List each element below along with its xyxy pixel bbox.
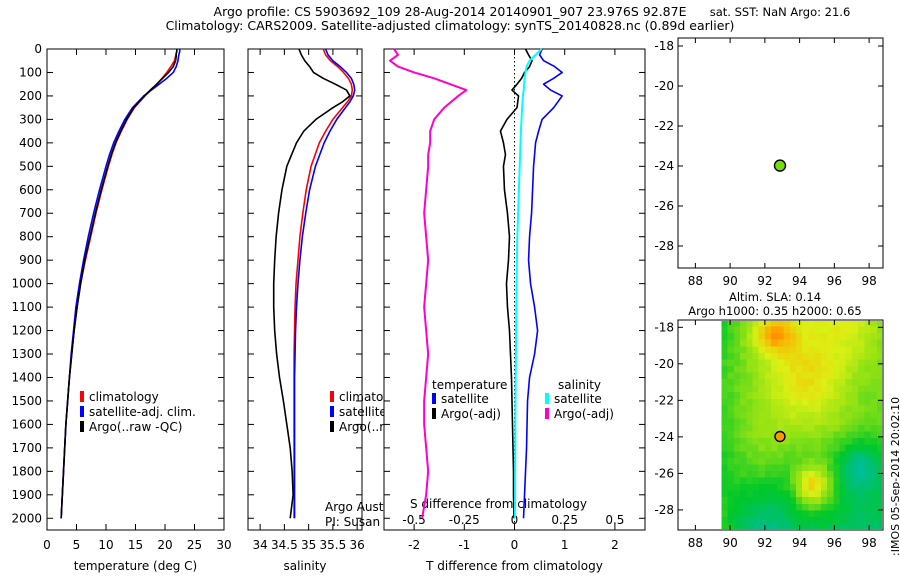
y-tick-label-17: 1700 <box>11 441 42 455</box>
heatmap-cell <box>871 445 878 452</box>
heatmap-cell <box>846 327 853 334</box>
heatmap-cell <box>846 504 853 511</box>
heatmap-cell <box>759 504 766 511</box>
heatmap-cell <box>864 353 871 360</box>
heatmap-cell <box>790 346 797 353</box>
heatmap-cell <box>734 353 741 360</box>
heatmap-cell <box>728 418 735 425</box>
heatmap-cell <box>815 458 822 465</box>
sst-y-tick-label-1: -20 <box>654 79 674 93</box>
heatmap-cell <box>759 405 766 412</box>
heatmap-cell <box>871 418 878 425</box>
heatmap-cell <box>796 353 803 360</box>
heatmap-cell <box>802 379 809 386</box>
heatmap-cell <box>771 418 778 425</box>
heatmap-cell <box>734 412 741 419</box>
heatmap-cell <box>790 478 797 485</box>
heatmap-cell <box>858 386 865 393</box>
heatmap-cell <box>821 333 828 340</box>
heatmap-cell <box>821 432 828 439</box>
heatmap-cell <box>740 471 747 478</box>
heatmap-cell <box>808 484 815 491</box>
heatmap-cell <box>765 320 772 327</box>
heatmap-cell <box>759 432 766 439</box>
heatmap-cell <box>790 451 797 458</box>
heatmap-cell <box>864 464 871 471</box>
heatmap-cell <box>852 425 859 432</box>
heatmap-cell <box>790 497 797 504</box>
heatmap-cell <box>734 432 741 439</box>
difference-x-axis-label-top: S difference from climatology <box>410 497 587 511</box>
heatmap-cell <box>721 353 728 360</box>
heatmap-cell <box>858 517 865 524</box>
heatmap-cell <box>840 405 847 412</box>
heatmap-cell <box>846 392 853 399</box>
heatmap-cell <box>827 412 834 419</box>
heatmap-cell <box>808 497 815 504</box>
heatmap-cell <box>827 458 834 465</box>
heatmap-cell <box>771 425 778 432</box>
heatmap-cell <box>864 333 871 340</box>
heatmap-cell <box>753 432 760 439</box>
heatmap-cell <box>746 517 753 524</box>
heatmap-cell <box>833 333 840 340</box>
heatmap-cell <box>864 438 871 445</box>
heatmap-cell <box>864 418 871 425</box>
heatmap-cell <box>796 333 803 340</box>
heatmap-cell <box>759 458 766 465</box>
heatmap-cell <box>728 333 735 340</box>
sla-x-tick-label-2: 92 <box>757 536 772 550</box>
heatmap-cell <box>852 366 859 373</box>
heatmap-cell <box>858 418 865 425</box>
heatmap-cell <box>840 320 847 327</box>
heatmap-cell <box>808 359 815 366</box>
heatmap-cell <box>840 491 847 498</box>
y-tick-label-14: 1400 <box>11 370 42 384</box>
heatmap-cell <box>734 517 741 524</box>
heatmap-cell <box>740 386 747 393</box>
heatmap-cell <box>827 425 834 432</box>
heatmap-cell <box>858 346 865 353</box>
heatmap-cell <box>840 478 847 485</box>
heatmap-cell <box>753 418 760 425</box>
y-tick-label-7: 700 <box>19 206 42 220</box>
heatmap-cell <box>852 392 859 399</box>
heatmap-cell <box>721 359 728 366</box>
heatmap-cell <box>821 438 828 445</box>
y-tick-label-19: 1900 <box>11 488 42 502</box>
heatmap-cell <box>815 399 822 406</box>
heatmap-cell <box>802 405 809 412</box>
heatmap-cell <box>864 458 871 465</box>
heatmap-cell <box>790 504 797 511</box>
heatmap-cell <box>740 340 747 347</box>
heatmap-cell <box>852 504 859 511</box>
heatmap-cell <box>846 497 853 504</box>
heatmap-cell <box>840 432 847 439</box>
heatmap-cell <box>827 392 834 399</box>
heatmap-cell <box>753 471 760 478</box>
heatmap-cell <box>827 333 834 340</box>
heatmap-cell <box>734 491 741 498</box>
heatmap-cell <box>802 432 809 439</box>
heatmap-cell <box>815 497 822 504</box>
heatmap-cell <box>753 464 760 471</box>
heatmap-cell <box>753 491 760 498</box>
heatmap-cell <box>815 353 822 360</box>
heatmap-cell <box>784 373 791 380</box>
heatmap-cell <box>771 517 778 524</box>
heatmap-cell <box>753 484 760 491</box>
heatmap-cell <box>746 346 753 353</box>
heatmap-cell <box>771 366 778 373</box>
heatmap-cell <box>871 366 878 373</box>
heatmap-cell <box>827 432 834 439</box>
temperature-legend-label-1: satellite-adj. clim. <box>89 405 196 419</box>
heatmap-cell <box>746 399 753 406</box>
heatmap-cell <box>858 504 865 511</box>
heatmap-cell <box>815 491 822 498</box>
heatmap-cell <box>821 373 828 380</box>
y-tick-label-8: 800 <box>19 230 42 244</box>
heatmap-cell <box>740 327 747 334</box>
heatmap-cell <box>728 346 735 353</box>
heatmap-cell <box>721 340 728 347</box>
heatmap-cell <box>840 412 847 419</box>
heatmap-cell <box>808 412 815 419</box>
heatmap-cell <box>728 412 735 419</box>
heatmap-cell <box>771 320 778 327</box>
heatmap-cell <box>827 379 834 386</box>
heatmap-cell <box>833 517 840 524</box>
heatmap-cell <box>858 327 865 334</box>
heatmap-cell <box>721 451 728 458</box>
heatmap-cell <box>759 346 766 353</box>
heatmap-cell <box>759 478 766 485</box>
heatmap-cell <box>833 497 840 504</box>
heatmap-cell <box>721 497 728 504</box>
heatmap-cell <box>771 373 778 380</box>
heatmap-cell <box>852 471 859 478</box>
heatmap-cell <box>790 379 797 386</box>
heatmap-cell <box>852 432 859 439</box>
heatmap-cell <box>740 504 747 511</box>
salinity-plot-frame <box>248 49 362 530</box>
heatmap-cell <box>771 359 778 366</box>
heatmap-cell <box>864 379 871 386</box>
salinity-legend-swatch-1 <box>330 406 334 417</box>
heatmap-cell <box>753 386 760 393</box>
heatmap-cell <box>833 418 840 425</box>
y-tick-label-4: 400 <box>19 136 42 150</box>
heatmap-cell <box>852 386 859 393</box>
heatmap-cell <box>777 333 784 340</box>
heatmap-cell <box>734 510 741 517</box>
heatmap-cell <box>728 353 735 360</box>
heatmap-cell <box>821 379 828 386</box>
heatmap-cell <box>815 432 822 439</box>
heatmap-cell <box>821 471 828 478</box>
heatmap-cell <box>759 366 766 373</box>
temperature-legend-swatch-0 <box>80 391 84 402</box>
heatmap-cell <box>784 379 791 386</box>
heatmap-cell <box>796 484 803 491</box>
heatmap-cell <box>771 445 778 452</box>
heatmap-cell <box>721 386 728 393</box>
heatmap-cell <box>864 471 871 478</box>
heatmap-cell <box>802 412 809 419</box>
heatmap-cell <box>852 340 859 347</box>
heatmap-cell <box>728 386 735 393</box>
heatmap-cell <box>871 373 878 380</box>
heatmap-cell <box>833 458 840 465</box>
heatmap-cell <box>740 491 747 498</box>
heatmap-cell <box>821 497 828 504</box>
heatmap-cell <box>858 412 865 419</box>
heatmap-cell <box>790 484 797 491</box>
heatmap-cell <box>746 445 753 452</box>
heatmap-cell <box>746 373 753 380</box>
heatmap-cell <box>759 353 766 360</box>
heatmap-cell <box>840 327 847 334</box>
heatmap-cell <box>777 412 784 419</box>
heatmap-cell <box>815 445 822 452</box>
heatmap-cell <box>784 418 791 425</box>
heatmap-cell <box>858 432 865 439</box>
y-tick-label-13: 1300 <box>11 347 42 361</box>
heatmap-cell <box>840 399 847 406</box>
heatmap-cell <box>790 392 797 399</box>
heatmap-cell <box>740 432 747 439</box>
heatmap-cell <box>827 399 834 406</box>
heatmap-cell <box>790 399 797 406</box>
heatmap-cell <box>815 438 822 445</box>
heatmap-cell <box>790 445 797 452</box>
heatmap-cell <box>777 458 784 465</box>
heatmap-cell <box>852 333 859 340</box>
heatmap-cell <box>840 464 847 471</box>
heatmap-cell <box>858 497 865 504</box>
heatmap-cell <box>796 373 803 380</box>
heatmap-cell <box>858 464 865 471</box>
heatmap-cell <box>759 399 766 406</box>
heatmap-cell <box>802 320 809 327</box>
heatmap-cell <box>777 491 784 498</box>
sla-y-tick-label-1: -20 <box>654 357 674 371</box>
heatmap-cell <box>821 445 828 452</box>
heatmap-cell <box>734 451 741 458</box>
heatmap-cell <box>765 491 772 498</box>
heatmap-cell <box>790 327 797 334</box>
heatmap-cell <box>796 504 803 511</box>
heatmap-cell <box>821 484 828 491</box>
heatmap-cell <box>771 497 778 504</box>
heatmap-cell <box>871 438 878 445</box>
heatmap-cell <box>746 504 753 511</box>
heatmap-cell <box>790 359 797 366</box>
heatmap-cell <box>740 320 747 327</box>
heatmap-cell <box>852 327 859 334</box>
heatmap-cell <box>796 327 803 334</box>
y-tick-label-16: 1600 <box>11 417 42 431</box>
heatmap-cell <box>790 517 797 524</box>
heatmap-cell <box>802 425 809 432</box>
heatmap-cell <box>821 327 828 334</box>
difference-legend-temperature-swatch-0 <box>432 393 436 404</box>
heatmap-cell <box>765 464 772 471</box>
heatmap-cell <box>784 497 791 504</box>
panel-salinity: 3434.53535.536salinityclimatologysatelli… <box>230 0 370 580</box>
heatmap-cell <box>746 353 753 360</box>
temperature-legend-swatch-2 <box>80 421 84 432</box>
heatmap-cell <box>746 320 753 327</box>
heatmap-cell <box>728 471 735 478</box>
heatmap-cell <box>802 438 809 445</box>
heatmap-cell <box>846 464 853 471</box>
heatmap-cell <box>858 438 865 445</box>
heatmap-cell <box>815 373 822 380</box>
heatmap-cell <box>833 412 840 419</box>
sla-x-tick-label-3: 94 <box>792 536 807 550</box>
sla-x-tick-label-5: 98 <box>861 536 876 550</box>
heatmap-cell <box>759 484 766 491</box>
heatmap-cell <box>852 399 859 406</box>
heatmap-cell <box>746 386 753 393</box>
heatmap-cell <box>753 497 760 504</box>
heatmap-cell <box>871 327 878 334</box>
heatmap-cell <box>759 412 766 419</box>
heatmap-cell <box>746 491 753 498</box>
heatmap-cell <box>765 432 772 439</box>
imos-timestamp: :IMOS 05-Sep-2014 20:02:10 <box>889 397 900 556</box>
heatmap-cell <box>753 373 760 380</box>
heatmap-cell <box>740 405 747 412</box>
heatmap-cell <box>796 405 803 412</box>
x-tick-label-bottom-0: -2 <box>408 538 420 552</box>
heatmap-cell <box>777 399 784 406</box>
sst-plot-frame <box>678 38 883 268</box>
heatmap-cell <box>734 497 741 504</box>
heatmap-cell <box>833 359 840 366</box>
heatmap-cell <box>858 478 865 485</box>
heatmap-cell <box>734 438 741 445</box>
heatmap-cell <box>771 353 778 360</box>
heatmap-cell <box>721 478 728 485</box>
heatmap-cell <box>721 379 728 386</box>
heatmap-cell <box>753 405 760 412</box>
heatmap-cell <box>765 359 772 366</box>
heatmap-cell <box>771 451 778 458</box>
heatmap-cell <box>827 478 834 485</box>
heatmap-cell <box>815 327 822 334</box>
heatmap-cell <box>864 451 871 458</box>
heatmap-cell <box>871 399 878 406</box>
x-tick-label-bottom-4: 2 <box>611 538 619 552</box>
heatmap-cell <box>771 379 778 386</box>
heatmap-cell <box>815 340 822 347</box>
panel-sst-map: sat. SST: NaN Argo: 21.6 889092949698-18… <box>660 0 900 300</box>
heatmap-cell <box>777 405 784 412</box>
heatmap-cell <box>771 484 778 491</box>
heatmap-cell <box>777 517 784 524</box>
heatmap-cell <box>753 412 760 419</box>
heatmap-cell <box>759 425 766 432</box>
heatmap-cell <box>777 471 784 478</box>
temperature-legend-label-0: climatology <box>89 390 159 404</box>
heatmap-cell <box>771 346 778 353</box>
heatmap-cell <box>734 359 741 366</box>
heatmap-cell <box>753 366 760 373</box>
heatmap-cell <box>871 346 878 353</box>
temperature-plot-frame <box>47 49 224 530</box>
heatmap-cell <box>753 333 760 340</box>
heatmap-cell <box>734 464 741 471</box>
heatmap-cell <box>864 478 871 485</box>
heatmap-cell <box>864 405 871 412</box>
heatmap-cell <box>808 386 815 393</box>
difference-legend-salinity-swatch-0 <box>545 393 549 404</box>
heatmap-cell <box>790 405 797 412</box>
heatmap-cell <box>734 327 741 334</box>
heatmap-cell <box>784 464 791 471</box>
heatmap-cell <box>746 432 753 439</box>
heatmap-cell <box>808 392 815 399</box>
heatmap-cell <box>765 340 772 347</box>
heatmap-cell <box>858 399 865 406</box>
heatmap-cell <box>827 386 834 393</box>
heatmap-cell <box>833 510 840 517</box>
heatmap-cell <box>827 320 834 327</box>
heatmap-cell <box>858 458 865 465</box>
difference-legend-temperature-label-1: Argo(-adj) <box>441 407 501 421</box>
sla-y-tick-label-0: -18 <box>654 320 674 334</box>
heatmap-cell <box>852 353 859 360</box>
heatmap-cell <box>759 497 766 504</box>
heatmap-cell <box>765 451 772 458</box>
heatmap-cell <box>846 373 853 380</box>
heatmap-cell <box>771 405 778 412</box>
heatmap-cell <box>777 359 784 366</box>
heatmap-cell <box>721 438 728 445</box>
heatmap-cell <box>746 392 753 399</box>
x-tick-label-5: 25 <box>187 538 202 552</box>
sla-x-tick-label-1: 90 <box>722 536 737 550</box>
heatmap-cell <box>796 412 803 419</box>
heatmap-cell <box>846 346 853 353</box>
heatmap-cell <box>759 517 766 524</box>
heatmap-cell <box>777 418 784 425</box>
temperature-legend-label-2: Argo(..raw -QC) <box>89 420 182 434</box>
heatmap-cell <box>827 346 834 353</box>
heatmap-cell <box>821 399 828 406</box>
heatmap-cell <box>815 366 822 373</box>
heatmap-cell <box>840 346 847 353</box>
heatmap-cell <box>802 327 809 334</box>
heatmap-cell <box>821 320 828 327</box>
x-tick-label-2: 10 <box>98 538 113 552</box>
heatmap-cell <box>746 464 753 471</box>
heatmap-cell <box>777 392 784 399</box>
heatmap-cell <box>871 471 878 478</box>
heatmap-cell <box>821 425 828 432</box>
heatmap-cell <box>771 491 778 498</box>
sla-map-title-line1: Altim. SLA: 0.14 <box>660 290 890 304</box>
heatmap-cell <box>821 464 828 471</box>
heatmap-cell <box>833 373 840 380</box>
heatmap-cell <box>790 412 797 419</box>
heatmap-cell <box>846 491 853 498</box>
